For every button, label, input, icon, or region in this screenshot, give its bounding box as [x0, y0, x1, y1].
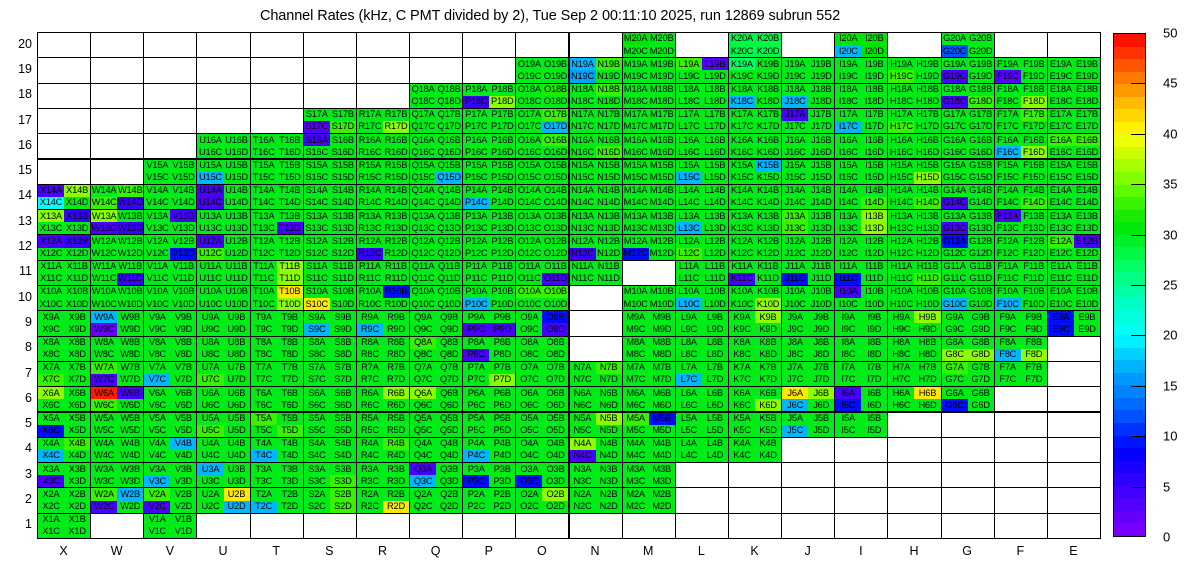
heatmap-cell-M18[interactable]: M18AM18BM18CM18D	[622, 83, 676, 109]
channel-G9D[interactable]: G9D	[968, 323, 994, 335]
channel-K18C[interactable]: K18C	[729, 96, 755, 108]
channel-L9B[interactable]: L9B	[702, 311, 728, 323]
channel-Q11B[interactable]: Q11B	[436, 261, 462, 273]
heatmap-cell-F8[interactable]: F8AF8BF8CF8D	[994, 336, 1048, 362]
channel-F17B[interactable]: F17B	[1021, 109, 1047, 121]
channel-U14A[interactable]: U14A	[197, 185, 223, 197]
heatmap-cell-G19[interactable]: G19AG19BG19CG19D	[941, 57, 995, 83]
channel-T7D[interactable]: T7D	[277, 374, 303, 386]
channel-H13D[interactable]: H13D	[914, 222, 940, 234]
channel-W13B[interactable]: W13B	[117, 210, 143, 222]
channel-I9C[interactable]: I9C	[835, 323, 861, 335]
heatmap-cell-Q18[interactable]: Q18AQ18BQ18CQ18D	[409, 83, 463, 109]
channel-P3C[interactable]: P3C	[463, 475, 489, 487]
channel-V5A[interactable]: V5A	[144, 413, 170, 425]
channel-I11D[interactable]: I11D	[861, 273, 887, 285]
channel-Q12D[interactable]: Q12D	[436, 248, 462, 260]
channel-R12D[interactable]: R12D	[383, 248, 409, 260]
channel-V15D[interactable]: V15D	[170, 172, 196, 184]
channel-W13A[interactable]: W13A	[91, 210, 117, 222]
channel-Q17C[interactable]: Q17C	[410, 121, 436, 133]
channel-I12C[interactable]: I12C	[835, 248, 861, 260]
channel-O9B[interactable]: O9B	[542, 311, 568, 323]
heatmap-cell-F14[interactable]: F14AF14BF14CF14D	[994, 184, 1048, 210]
channel-F17D[interactable]: F17D	[1021, 121, 1047, 133]
channel-N15B[interactable]: N15B	[596, 160, 622, 172]
channel-M14C[interactable]: M14C	[623, 197, 649, 209]
channel-H7D[interactable]: H7D	[914, 374, 940, 386]
channel-S10D[interactable]: S10D	[330, 298, 356, 310]
channel-Q14D[interactable]: Q14D	[436, 197, 462, 209]
channel-G16A[interactable]: G16A	[942, 134, 968, 146]
channel-S7A[interactable]: S7A	[304, 362, 330, 374]
channel-R16A[interactable]: R16A	[357, 134, 383, 146]
channel-T2D[interactable]: T2D	[277, 501, 303, 513]
channel-W6B[interactable]: W6B	[117, 387, 143, 399]
channel-J19A[interactable]: J19A	[782, 58, 808, 70]
channel-F18D[interactable]: F18D	[1021, 96, 1047, 108]
channel-M12B[interactable]: M12B	[649, 235, 675, 247]
channel-Q15A[interactable]: Q15A	[410, 160, 436, 172]
channel-X9C[interactable]: X9C	[38, 323, 64, 335]
channel-R6A[interactable]: R6A	[357, 387, 383, 399]
channel-I16B[interactable]: I16B	[861, 134, 887, 146]
channel-N19A[interactable]: N19A	[570, 58, 596, 70]
heatmap-cell-N4[interactable]: N4AN4BN4CN4D	[569, 437, 623, 463]
channel-E13B[interactable]: E13B	[1074, 210, 1100, 222]
channel-R3B[interactable]: R3B	[383, 463, 409, 475]
channel-U8A[interactable]: U8A	[197, 337, 223, 349]
heatmap-cell-K20[interactable]: K20AK20BK20CK20D	[728, 32, 782, 58]
channel-V14D[interactable]: V14D	[170, 197, 196, 209]
channel-I11A[interactable]: I11A	[835, 261, 861, 273]
channel-V12C[interactable]: V12C	[144, 248, 170, 260]
heatmap-cell-R14[interactable]: R14AR14BR14CR14D	[356, 184, 410, 210]
channel-I10A[interactable]: I10A	[835, 286, 861, 298]
channel-T14A[interactable]: T14A	[251, 185, 277, 197]
channel-J6C[interactable]: J6C	[782, 399, 808, 411]
channel-N16D[interactable]: N16D	[596, 146, 622, 158]
heatmap-cell-S7[interactable]: S7AS7BS7CS7D	[303, 361, 357, 387]
channel-T8C[interactable]: T8C	[251, 349, 277, 361]
channel-W12C[interactable]: W12C	[91, 248, 117, 260]
channel-U13A[interactable]: U13A	[197, 210, 223, 222]
channel-J12A[interactable]: J12A	[782, 235, 808, 247]
channel-O7C[interactable]: O7C	[516, 374, 542, 386]
channel-R5A[interactable]: R5A	[357, 413, 383, 425]
heatmap-cell-O3[interactable]: O3AO3BO3CO3D	[515, 462, 569, 488]
channel-G10C[interactable]: G10C	[942, 298, 968, 310]
channel-J18D[interactable]: J18D	[808, 96, 834, 108]
heatmap-cell-K15[interactable]: K15AK15BK15CK15D	[728, 159, 782, 185]
channel-M7B[interactable]: M7B	[649, 362, 675, 374]
channel-M19C[interactable]: M19C	[623, 70, 649, 82]
heatmap-cell-S16[interactable]: S16AS16BS16CS16D	[303, 133, 357, 159]
heatmap-cell-M3[interactable]: M3AM3BM3CM3D	[622, 462, 676, 488]
channel-R4D[interactable]: R4D	[383, 450, 409, 462]
heatmap-cell-E11[interactable]: E11AE11BE11CE11D	[1047, 260, 1101, 286]
heatmap-cell-J19[interactable]: J19AJ19BJ19CJ19D	[781, 57, 835, 83]
channel-I15A[interactable]: I15A	[835, 160, 861, 172]
heatmap-cell-S10[interactable]: S10AS10BS10CS10D	[303, 285, 357, 311]
channel-G13A[interactable]: G13A	[942, 210, 968, 222]
channel-I11C[interactable]: I11C	[835, 273, 861, 285]
heatmap-cell-H14[interactable]: H14AH14BH14CH14D	[887, 184, 941, 210]
heatmap-cell-N14[interactable]: N14AN14BN14CN14D	[569, 184, 623, 210]
heatmap-cell-X11[interactable]: X11AX11BX11CX11D	[37, 260, 91, 286]
channel-M3B[interactable]: M3B	[649, 463, 675, 475]
heatmap-cell-U11[interactable]: U11AU11BU11CU11D	[196, 260, 250, 286]
channel-I7C[interactable]: I7C	[835, 374, 861, 386]
heatmap-cell-G6[interactable]: G6AG6BG6CG6D	[941, 386, 995, 412]
heatmap-cell-P15[interactable]: P15AP15BP15CP15D	[462, 159, 516, 185]
channel-O13A[interactable]: O13A	[516, 210, 542, 222]
channel-K13B[interactable]: K13B	[755, 210, 781, 222]
heatmap-cell-P17[interactable]: P17AP17BP17CP17D	[462, 108, 516, 134]
channel-H11D[interactable]: H11D	[914, 273, 940, 285]
channel-H8A[interactable]: H8A	[888, 337, 914, 349]
channel-W3D[interactable]: W3D	[117, 475, 143, 487]
channel-T6D[interactable]: T6D	[277, 399, 303, 411]
heatmap-cell-M13[interactable]: M13AM13BM13CM13D	[622, 209, 676, 235]
channel-P16B[interactable]: P16B	[489, 134, 515, 146]
channel-G18B[interactable]: G18B	[968, 84, 994, 96]
channel-X6D[interactable]: X6D	[64, 399, 90, 411]
channel-I12B[interactable]: I12B	[861, 235, 887, 247]
channel-Q8A[interactable]: Q8A	[410, 337, 436, 349]
channel-W12B[interactable]: W12B	[117, 235, 143, 247]
channel-I6C[interactable]: I6C	[835, 399, 861, 411]
channel-L4A[interactable]: L4A	[676, 438, 702, 450]
channel-P17C[interactable]: P17C	[463, 121, 489, 133]
heatmap-cell-S9[interactable]: S9AS9BS9CS9D	[303, 310, 357, 336]
heatmap-cell-I9[interactable]: I9AI9BI9CI9D	[834, 310, 888, 336]
channel-F16B[interactable]: F16B	[1021, 134, 1047, 146]
channel-V3D[interactable]: V3D	[170, 475, 196, 487]
channel-P16D[interactable]: P16D	[489, 146, 515, 158]
channel-J15D[interactable]: J15D	[808, 172, 834, 184]
channel-N19B[interactable]: N19B	[596, 58, 622, 70]
heatmap-cell-O6[interactable]: O6AO6BO6CO6D	[515, 386, 569, 412]
channel-U9C[interactable]: U9C	[197, 323, 223, 335]
channel-T6C[interactable]: T6C	[251, 399, 277, 411]
channel-Q15B[interactable]: Q15B	[436, 160, 462, 172]
heatmap-cell-N13[interactable]: N13AN13BN13CN13D	[569, 209, 623, 235]
channel-X4D[interactable]: X4D	[64, 450, 90, 462]
channel-R4B[interactable]: R4B	[383, 438, 409, 450]
channel-O2C[interactable]: O2C	[516, 501, 542, 513]
channel-U2D[interactable]: U2D	[224, 501, 250, 513]
channel-F18C[interactable]: F18C	[995, 96, 1021, 108]
channel-K7A[interactable]: K7A	[729, 362, 755, 374]
channel-L7A[interactable]: L7A	[676, 362, 702, 374]
heatmap-cell-T4[interactable]: T4AT4BT4CT4D	[250, 437, 304, 463]
channel-U5C[interactable]: U5C	[197, 425, 223, 437]
channel-V10B[interactable]: V10B	[170, 286, 196, 298]
channel-P2C[interactable]: P2C	[463, 501, 489, 513]
channel-Q12A[interactable]: Q12A	[410, 235, 436, 247]
channel-G15D[interactable]: G15D	[968, 172, 994, 184]
heatmap-cell-L14[interactable]: L14AL14BL14CL14D	[675, 184, 729, 210]
heatmap-cell-K7[interactable]: K7AK7BK7CK7D	[728, 361, 782, 387]
channel-K7C[interactable]: K7C	[729, 374, 755, 386]
heatmap-cell-Q17[interactable]: Q17AQ17BQ17CQ17D	[409, 108, 463, 134]
channel-S15C[interactable]: S15C	[304, 172, 330, 184]
channel-N16B[interactable]: N16B	[596, 134, 622, 146]
channel-J8C[interactable]: J8C	[782, 349, 808, 361]
channel-R17D[interactable]: R17D	[383, 121, 409, 133]
channel-K7D[interactable]: K7D	[755, 374, 781, 386]
channel-I13A[interactable]: I13A	[835, 210, 861, 222]
channel-L13D[interactable]: L13D	[702, 222, 728, 234]
channel-R12A[interactable]: R12A	[357, 235, 383, 247]
channel-I20A[interactable]: I20A	[835, 33, 861, 45]
channel-V1C[interactable]: V1C	[144, 526, 170, 538]
channel-J5B[interactable]: J5B	[808, 413, 834, 425]
channel-R17A[interactable]: R17A	[357, 109, 383, 121]
channel-T6A[interactable]: T6A	[251, 387, 277, 399]
channel-X2B[interactable]: X2B	[64, 488, 90, 500]
channel-M10D[interactable]: M10D	[649, 298, 675, 310]
channel-S3B[interactable]: S3B	[330, 463, 356, 475]
channel-G12D[interactable]: G12D	[968, 248, 994, 260]
heatmap-cell-T8[interactable]: T8AT8BT8CT8D	[250, 336, 304, 362]
channel-H9D[interactable]: H9D	[914, 323, 940, 335]
channel-E11C[interactable]: E11C	[1048, 273, 1074, 285]
heatmap-cell-V1[interactable]: V1AV1BV1CV1D	[143, 513, 197, 539]
channel-V5D[interactable]: V5D	[170, 425, 196, 437]
channel-L11B[interactable]: L11B	[702, 261, 728, 273]
channel-F16C[interactable]: F16C	[995, 146, 1021, 158]
channel-X5D[interactable]: X5D	[64, 425, 90, 437]
channel-R15D[interactable]: R15D	[383, 172, 409, 184]
channel-J18B[interactable]: J18B	[808, 84, 834, 96]
channel-R5B[interactable]: R5B	[383, 413, 409, 425]
channel-W8A[interactable]: W8A	[91, 337, 117, 349]
heatmap-cell-X2[interactable]: X2AX2BX2CX2D	[37, 487, 91, 513]
heatmap-cell-S2[interactable]: S2AS2BS2CS2D	[303, 487, 357, 513]
channel-I5A[interactable]: I5A	[835, 413, 861, 425]
channel-J15C[interactable]: J15C	[782, 172, 808, 184]
heatmap-cell-Q12[interactable]: Q12AQ12BQ12CQ12D	[409, 234, 463, 260]
channel-H14A[interactable]: H14A	[888, 185, 914, 197]
channel-U10A[interactable]: U10A	[197, 286, 223, 298]
channel-P13B[interactable]: P13B	[489, 210, 515, 222]
channel-J11A[interactable]: J11A	[782, 261, 808, 273]
channel-J19D[interactable]: J19D	[808, 70, 834, 82]
heatmap-cell-E10[interactable]: E10AE10BE10CE10D	[1047, 285, 1101, 311]
heatmap-cell-G16[interactable]: G16AG16BG16CG16D	[941, 133, 995, 159]
heatmap-cell-L10[interactable]: L10AL10BL10CL10D	[675, 285, 729, 311]
heatmap-cell-G10[interactable]: G10AG10BG10CG10D	[941, 285, 995, 311]
channel-X3C[interactable]: X3C	[38, 475, 64, 487]
channel-L15D[interactable]: L15D	[702, 172, 728, 184]
heatmap-cell-T13[interactable]: T13AT13BT13CT13D	[250, 209, 304, 235]
channel-K17C[interactable]: K17C	[729, 121, 755, 133]
channel-P5A[interactable]: P5A	[463, 413, 489, 425]
heatmap-cell-U10[interactable]: U10AU10BU10CU10D	[196, 285, 250, 311]
channel-S9A[interactable]: S9A	[304, 311, 330, 323]
channel-H19C[interactable]: H19C	[888, 70, 914, 82]
heatmap-cell-R4[interactable]: R4AR4BR4CR4D	[356, 437, 410, 463]
channel-E14C[interactable]: E14C	[1048, 197, 1074, 209]
channel-K8B[interactable]: K8B	[755, 337, 781, 349]
heatmap-cell-M5[interactable]: M5AM5BM5CM5D	[622, 412, 676, 438]
heatmap-cell-T12[interactable]: T12AT12BT12CT12D	[250, 234, 304, 260]
channel-L5D[interactable]: L5D	[702, 425, 728, 437]
channel-V1D[interactable]: V1D	[170, 526, 196, 538]
channel-H6C[interactable]: H6C	[888, 399, 914, 411]
heatmap-cell-O16[interactable]: O16AO16BO16CO16D	[515, 133, 569, 159]
channel-V9B[interactable]: V9B	[170, 311, 196, 323]
channel-V8B[interactable]: V8B	[170, 337, 196, 349]
channel-K16A[interactable]: K16A	[729, 134, 755, 146]
channel-Q2D[interactable]: Q2D	[436, 501, 462, 513]
channel-M17A[interactable]: M17A	[623, 109, 649, 121]
channel-M8D[interactable]: M8D	[649, 349, 675, 361]
channel-S8C[interactable]: S8C	[304, 349, 330, 361]
channel-P9A[interactable]: P9A	[463, 311, 489, 323]
heatmap-cell-S17[interactable]: S17AS17BS17CS17D	[303, 108, 357, 134]
channel-R7B[interactable]: R7B	[383, 362, 409, 374]
heatmap-cell-S11[interactable]: S11AS11BS11CS11D	[303, 260, 357, 286]
channel-S11C[interactable]: S11C	[304, 273, 330, 285]
heatmap-cell-L9[interactable]: L9AL9BL9CL9D	[675, 310, 729, 336]
channel-R15C[interactable]: R15C	[357, 172, 383, 184]
channel-W2D[interactable]: W2D	[117, 501, 143, 513]
channel-W9A[interactable]: W9A	[91, 311, 117, 323]
channel-P4A[interactable]: P4A	[463, 438, 489, 450]
heatmap-cell-V14[interactable]: V14AV14BV14CV14D	[143, 184, 197, 210]
channel-J15B[interactable]: J15B	[808, 160, 834, 172]
channel-R11C[interactable]: R11C	[357, 273, 383, 285]
channel-O19A[interactable]: O19A	[516, 58, 542, 70]
channel-P13C[interactable]: P13C	[463, 222, 489, 234]
channel-N7B[interactable]: N7B	[596, 362, 622, 374]
channel-R8A[interactable]: R8A	[357, 337, 383, 349]
channel-O14A[interactable]: O14A	[516, 185, 542, 197]
channel-U2C[interactable]: U2C	[197, 501, 223, 513]
channel-O6C[interactable]: O6C	[516, 399, 542, 411]
channel-N7C[interactable]: N7C	[570, 374, 596, 386]
channel-U13B[interactable]: U13B	[224, 210, 250, 222]
channel-P4B[interactable]: P4B	[489, 438, 515, 450]
channel-U2A[interactable]: U2A	[197, 488, 223, 500]
channel-N17B[interactable]: N17B	[596, 109, 622, 121]
channel-O16A[interactable]: O16A	[516, 134, 542, 146]
channel-S8B[interactable]: S8B	[330, 337, 356, 349]
channel-F9A[interactable]: F9A	[995, 311, 1021, 323]
channel-V6B[interactable]: V6B	[170, 387, 196, 399]
channel-F9C[interactable]: F9C	[995, 323, 1021, 335]
channel-E11B[interactable]: E11B	[1074, 261, 1100, 273]
heatmap-cell-W13[interactable]: W13AW13BW13CW13D	[90, 209, 144, 235]
heatmap-cell-N12[interactable]: N12AN12BN12CN12D	[569, 234, 623, 260]
channel-L10A[interactable]: L10A	[676, 286, 702, 298]
channel-H6B[interactable]: H6B	[914, 387, 940, 399]
channel-N4A[interactable]: N4A	[570, 438, 596, 450]
channel-V10D[interactable]: V10D	[170, 298, 196, 310]
heatmap-cell-G7[interactable]: G7AG7BG7CG7D	[941, 361, 995, 387]
channel-L16D[interactable]: L16D	[702, 146, 728, 158]
channel-N13A[interactable]: N13A	[570, 210, 596, 222]
channel-Q13D[interactable]: Q13D	[436, 222, 462, 234]
heatmap-cell-I12[interactable]: I12AI12BI12CI12D	[834, 234, 888, 260]
heatmap-cell-X10[interactable]: X10AX10BX10CX10D	[37, 285, 91, 311]
heatmap-cell-W4[interactable]: W4AW4BW4CW4D	[90, 437, 144, 463]
channel-R14A[interactable]: R14A	[357, 185, 383, 197]
channel-M8A[interactable]: M8A	[623, 337, 649, 349]
heatmap-cell-J12[interactable]: J12AJ12BJ12CJ12D	[781, 234, 835, 260]
channel-S17A[interactable]: S17A	[304, 109, 330, 121]
channel-O8A[interactable]: O8A	[516, 337, 542, 349]
channel-J12C[interactable]: J12C	[782, 248, 808, 260]
channel-H13B[interactable]: H13B	[914, 210, 940, 222]
heatmap-cell-X4[interactable]: X4AX4BX4CX4D	[37, 437, 91, 463]
heatmap-cell-M20[interactable]: M20AM20BM20CM20D	[622, 32, 676, 58]
channel-T10A[interactable]: T10A	[251, 286, 277, 298]
channel-F19B[interactable]: F19B	[1021, 58, 1047, 70]
heatmap-cell-J16[interactable]: J16AJ16BJ16CJ16D	[781, 133, 835, 159]
channel-O15D[interactable]: O15D	[542, 172, 568, 184]
channel-X3D[interactable]: X3D	[64, 475, 90, 487]
channel-N18B[interactable]: N18B	[596, 84, 622, 96]
heatmap-cell-S6[interactable]: S6AS6BS6CS6D	[303, 386, 357, 412]
channel-Q17B[interactable]: Q17B	[436, 109, 462, 121]
channel-S10A[interactable]: S10A	[304, 286, 330, 298]
channel-P18B[interactable]: P18B	[489, 84, 515, 96]
channel-U4D[interactable]: U4D	[224, 450, 250, 462]
channel-N18A[interactable]: N18A	[570, 84, 596, 96]
heatmap-cell-Q16[interactable]: Q16AQ16BQ16CQ16D	[409, 133, 463, 159]
channel-U10B[interactable]: U10B	[224, 286, 250, 298]
channel-H13C[interactable]: H13C	[888, 222, 914, 234]
channel-E15C[interactable]: E15C	[1048, 172, 1074, 184]
channel-T6B[interactable]: T6B	[277, 387, 303, 399]
channel-O9C[interactable]: O9C	[516, 323, 542, 335]
channel-I8A[interactable]: I8A	[835, 337, 861, 349]
heatmap-cell-Q11[interactable]: Q11AQ11BQ11CQ11D	[409, 260, 463, 286]
heatmap-cell-I11[interactable]: I11AI11BI11CI11D	[834, 260, 888, 286]
channel-E19C[interactable]: E19C	[1048, 70, 1074, 82]
channel-V9C[interactable]: V9C	[144, 323, 170, 335]
channel-H18C[interactable]: H18C	[888, 96, 914, 108]
channel-L17C[interactable]: L17C	[676, 121, 702, 133]
channel-G17B[interactable]: G17B	[968, 109, 994, 121]
channel-G6D[interactable]: G6D	[968, 399, 994, 411]
channel-X12A[interactable]: X12A	[38, 235, 64, 247]
channel-O4B[interactable]: O4B	[542, 438, 568, 450]
channel-M19B[interactable]: M19B	[649, 58, 675, 70]
channel-M17D[interactable]: M17D	[649, 121, 675, 133]
channel-G9B[interactable]: G9B	[968, 311, 994, 323]
channel-J14B[interactable]: J14B	[808, 185, 834, 197]
channel-T11D[interactable]: T11D	[277, 273, 303, 285]
heatmap-cell-K14[interactable]: K14AK14BK14CK14D	[728, 184, 782, 210]
channel-P16A[interactable]: P16A	[463, 134, 489, 146]
channel-E17D[interactable]: E17D	[1074, 121, 1100, 133]
channel-R16D[interactable]: R16D	[383, 146, 409, 158]
channel-U7A[interactable]: U7A	[197, 362, 223, 374]
heatmap-cell-N5[interactable]: N5AN5BN5CN5D	[569, 412, 623, 438]
heatmap-cell-U6[interactable]: U6AU6BU6CU6D	[196, 386, 250, 412]
heatmap-cell-S14[interactable]: S14AS14BS14CS14D	[303, 184, 357, 210]
channel-Q5A[interactable]: Q5A	[410, 413, 436, 425]
channel-E11A[interactable]: E11A	[1048, 261, 1074, 273]
channel-E10A[interactable]: E10A	[1048, 286, 1074, 298]
heatmap-cell-M14[interactable]: M14AM14BM14CM14D	[622, 184, 676, 210]
channel-I10B[interactable]: I10B	[861, 286, 887, 298]
